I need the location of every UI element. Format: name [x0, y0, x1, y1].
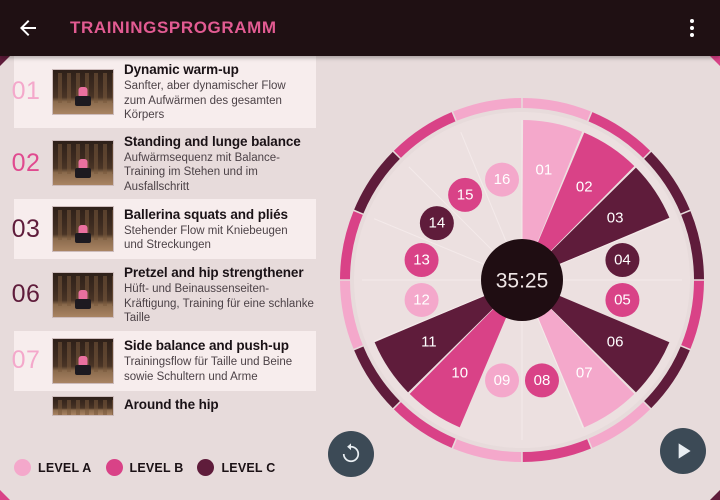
arrow-left-icon	[16, 16, 40, 40]
exercise-description: Sanfter, aber dynamischer Flow zum Aufwä…	[124, 79, 304, 123]
wheel-badge-label: 09	[494, 372, 511, 389]
more-vertical-icon	[690, 33, 694, 37]
list-item[interactable]: 07 Side balance and push-up Trainingsflo…	[14, 331, 316, 391]
level-legend: LEVEL A LEVEL B LEVEL C	[14, 459, 275, 476]
wheel-segment-label: 10	[451, 365, 468, 382]
legend-color-swatch	[106, 459, 123, 476]
exercise-text: Around the hip	[124, 396, 322, 413]
list-item[interactable]: 03 Ballerina squats and pliés Stehender …	[14, 199, 316, 259]
legend-label: LEVEL A	[38, 461, 92, 475]
exercise-thumbnail	[52, 338, 114, 384]
exercise-list[interactable]: 01 Dynamic warm-up Sanfter, aber dynamis…	[0, 56, 330, 438]
wheel-badge-label: 12	[413, 291, 430, 308]
legend-label: LEVEL B	[130, 461, 184, 475]
wheel-segment-badge[interactable]: 08	[525, 363, 559, 397]
legend-item-level-c: LEVEL C	[197, 459, 275, 476]
more-vertical-icon	[690, 19, 694, 23]
exercise-description: Trainingsflow für Taille und Beine sowie…	[124, 355, 304, 384]
wheel-segment-label: 11	[421, 334, 437, 351]
exercise-description: Stehender Flow mit Kniebeugen und Streck…	[124, 224, 304, 253]
exercise-title: Pretzel and hip strengthener	[124, 264, 318, 281]
exercise-text: Standing and lunge balance Aufwärmsequen…	[124, 133, 322, 195]
wheel-badge-label: 16	[494, 171, 511, 188]
list-item[interactable]: Around the hip	[0, 391, 330, 423]
wheel-badge-label: 14	[429, 215, 446, 232]
exercise-number: 01	[0, 77, 52, 106]
page-title: TRAININGSPROGRAMM	[70, 18, 277, 38]
exercise-text: Dynamic warm-up Sanfter, aber dynamische…	[124, 61, 308, 123]
app-bar: TRAININGSPROGRAMM	[0, 0, 720, 56]
play-icon	[670, 438, 696, 464]
legend-item-level-a: LEVEL A	[14, 459, 92, 476]
legend-color-swatch	[14, 459, 31, 476]
wheel-badge-label: 05	[614, 291, 631, 308]
exercise-thumbnail	[52, 396, 114, 416]
exercise-number: 02	[0, 149, 52, 178]
exercise-title: Ballerina squats and pliés	[124, 206, 304, 223]
timer-value: 35:25	[496, 270, 549, 293]
wheel-segment-label: 06	[607, 334, 624, 351]
exercise-thumbnail	[52, 140, 114, 186]
wheel-segment-label: 02	[576, 178, 593, 195]
exercise-title: Standing and lunge balance	[124, 133, 318, 150]
wheel-segment-badge[interactable]: 14	[420, 206, 454, 240]
exercise-number: 03	[0, 215, 52, 244]
timer-hub[interactable]: 35:25	[481, 239, 563, 321]
legend-item-level-b: LEVEL B	[106, 459, 184, 476]
wheel-badge-label: 04	[614, 252, 631, 269]
corner-accent-top-left	[0, 56, 10, 66]
corner-accent-bottom-right	[710, 490, 720, 500]
back-button[interactable]	[0, 0, 56, 56]
training-program-screen: TRAININGSPROGRAMM 01 Dynamic warm-up San…	[0, 0, 720, 500]
training-wheel[interactable]: 0102030405060708091011121314151635:25	[338, 96, 706, 464]
wheel-segment-badge[interactable]: 09	[485, 363, 519, 397]
overflow-menu-button[interactable]	[664, 0, 720, 56]
wheel-segment-label: 07	[576, 365, 593, 382]
exercise-title: Side balance and push-up	[124, 337, 304, 354]
wheel-svg[interactable]: 0102030405060708091011121314151635:25	[338, 96, 706, 464]
exercise-description: Hüft- und Beinaussenseiten-Kräftigung, T…	[124, 282, 318, 326]
exercise-title: Dynamic warm-up	[124, 61, 304, 78]
wheel-segment-label: 01	[536, 162, 553, 179]
wheel-segment-badge[interactable]: 12	[405, 283, 439, 317]
corner-accent-bottom-left	[0, 490, 10, 500]
reload-icon	[338, 441, 364, 467]
legend-color-swatch	[197, 459, 214, 476]
more-vertical-icon	[690, 26, 694, 30]
list-item[interactable]: 06 Pretzel and hip strengthener Hüft- un…	[0, 259, 330, 331]
exercise-text: Side balance and push-up Trainingsflow f…	[124, 337, 308, 384]
wheel-segment-badge[interactable]: 13	[405, 243, 439, 277]
exercise-title: Around the hip	[124, 396, 318, 413]
wheel-badge-label: 15	[457, 186, 474, 203]
list-item[interactable]: 01 Dynamic warm-up Sanfter, aber dynamis…	[14, 56, 316, 128]
exercise-thumbnail	[52, 272, 114, 318]
exercise-thumbnail	[52, 69, 114, 115]
exercise-description: Aufwärmsequenz mit Balance-Training im S…	[124, 151, 318, 195]
play-button[interactable]	[660, 428, 706, 474]
exercise-text: Pretzel and hip strengthener Hüft- und B…	[124, 264, 322, 326]
wheel-badge-label: 13	[413, 252, 430, 269]
wheel-segment-badge[interactable]: 15	[448, 178, 482, 212]
exercise-number: 06	[0, 280, 52, 309]
wheel-badge-label: 08	[534, 372, 551, 389]
wheel-segment-badge[interactable]: 16	[485, 163, 519, 197]
exercise-thumbnail	[52, 206, 114, 252]
reset-button[interactable]	[328, 431, 374, 477]
exercise-text: Ballerina squats and pliés Stehender Flo…	[124, 206, 308, 253]
list-item[interactable]: 02 Standing and lunge balance Aufwärmseq…	[0, 128, 330, 200]
exercise-number: 07	[0, 346, 52, 375]
legend-label: LEVEL C	[221, 461, 275, 475]
wheel-segment-badge[interactable]: 05	[605, 283, 639, 317]
wheel-segment-label: 03	[607, 209, 624, 226]
corner-accent-top-right	[710, 56, 720, 66]
wheel-segment-badge[interactable]: 04	[605, 243, 639, 277]
